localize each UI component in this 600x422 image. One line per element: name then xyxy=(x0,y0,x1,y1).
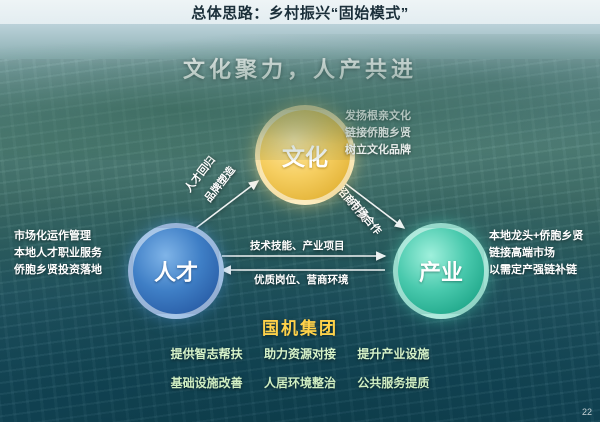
industry-description-line-2: 链接高端市场 xyxy=(489,245,600,262)
node-talent-label: 人才 xyxy=(154,255,198,287)
industry-description-line-1: 本地龙头+侨胞乡贤 xyxy=(489,228,600,245)
group-support-item-3: 提升产业设施 xyxy=(357,345,429,362)
talent-description-line-3: 侨胞乡贤投资落地 xyxy=(14,262,134,279)
group-support-item-4: 基础设施改善 xyxy=(171,374,243,391)
talent-description-line-2: 本地人才职业服务 xyxy=(14,245,134,262)
group-name: 国机集团 xyxy=(0,314,600,339)
node-culture[interactable]: 文化 xyxy=(255,105,355,205)
group-support-item-5: 人居环境整治 xyxy=(264,374,336,391)
group-support-item-2: 助力资源对接 xyxy=(264,345,336,362)
node-industry[interactable]: 产业 xyxy=(393,223,489,319)
page-number: 22 xyxy=(582,407,592,417)
culture-description-line-1: 发扬根亲文化 xyxy=(345,108,475,125)
group-support-item-6: 公共服务提质 xyxy=(357,374,429,391)
culture-description: 发扬根亲文化 链接侨胞乡贤 树立文化品牌 xyxy=(345,108,475,159)
arrow-label-culture-to-industry-2: 市场合作 xyxy=(347,196,385,238)
arrow-label-talent-to-industry: 技术技能、产业项目 xyxy=(250,238,345,253)
slide-canvas: 总体思路：乡村振兴“固始模式” 文化聚力，人产共进 人才回归 品牌塑造 招商引资… xyxy=(0,0,600,422)
slide-subtitle: 文化聚力，人产共进 xyxy=(0,52,600,84)
industry-description-line-3: 以需定产强链补链 xyxy=(489,262,600,279)
culture-description-line-3: 树立文化品牌 xyxy=(345,142,475,159)
node-culture-label: 文化 xyxy=(282,138,328,172)
culture-description-line-2: 链接侨胞乡贤 xyxy=(345,125,475,142)
group-support-row-1: 提供智志帮扶 助力资源对接 提升产业设施 xyxy=(0,345,600,362)
talent-description-line-1: 市场化运作管理 xyxy=(14,228,134,245)
industry-description: 本地龙头+侨胞乡贤 链接高端市场 以需定产强链补链 xyxy=(489,228,600,279)
node-talent[interactable]: 人才 xyxy=(128,223,224,319)
talent-description: 市场化运作管理 本地人才职业服务 侨胞乡贤投资落地 xyxy=(14,228,134,279)
group-support-row-2: 基础设施改善 人居环境整治 公共服务提质 xyxy=(0,374,600,391)
group-support-item-1: 提供智志帮扶 xyxy=(171,345,243,362)
node-industry-label: 产业 xyxy=(419,255,463,287)
page-title: 总体思路：乡村振兴“固始模式” xyxy=(0,2,600,23)
arrow-label-industry-to-talent: 优质岗位、营商环境 xyxy=(254,272,349,287)
